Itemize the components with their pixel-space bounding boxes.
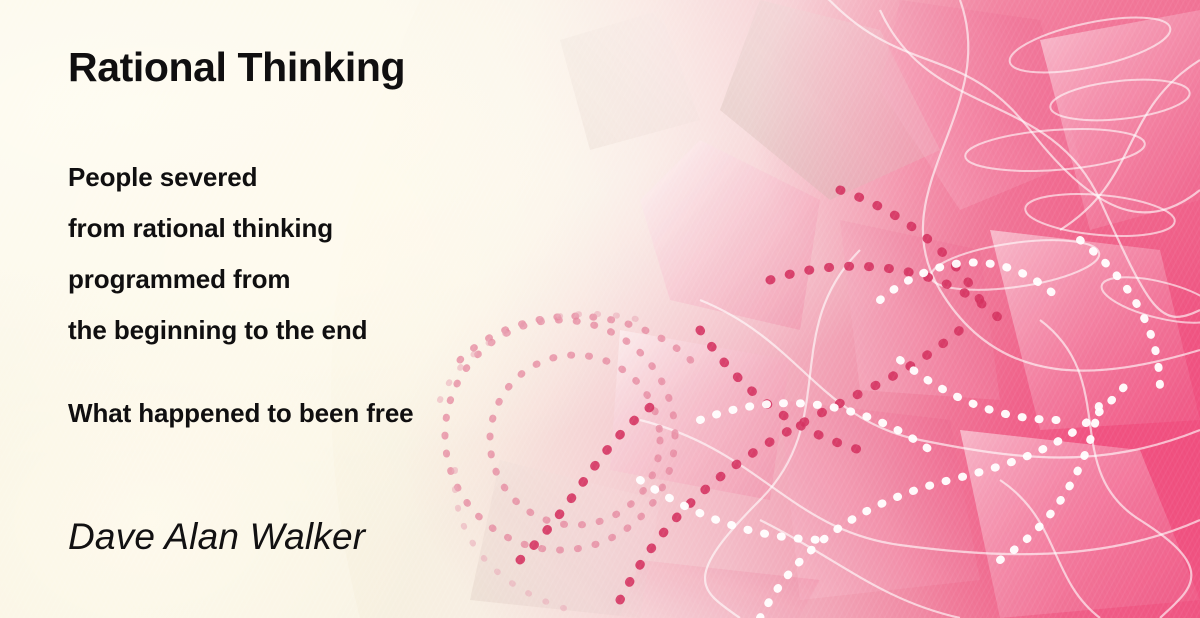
poem-line-blank xyxy=(68,356,414,388)
curve-swirls xyxy=(640,0,1200,618)
poem-line: from rational thinking xyxy=(68,203,414,254)
poem-line: the beginning to the end xyxy=(68,305,414,356)
poem-line: What happened to been free xyxy=(68,388,414,439)
poem-text-column: Rational Thinking People severed from ra… xyxy=(68,0,688,618)
poem-image: Rational Thinking People severed from ra… xyxy=(0,0,1200,618)
poem-body: People severed from rational thinking pr… xyxy=(68,152,414,439)
page-title: Rational Thinking xyxy=(68,44,405,91)
poem-author: Dave Alan Walker xyxy=(68,516,365,558)
petal-outlines xyxy=(928,6,1200,332)
poem-line: programmed from xyxy=(68,254,414,305)
poem-line: People severed xyxy=(68,152,414,203)
